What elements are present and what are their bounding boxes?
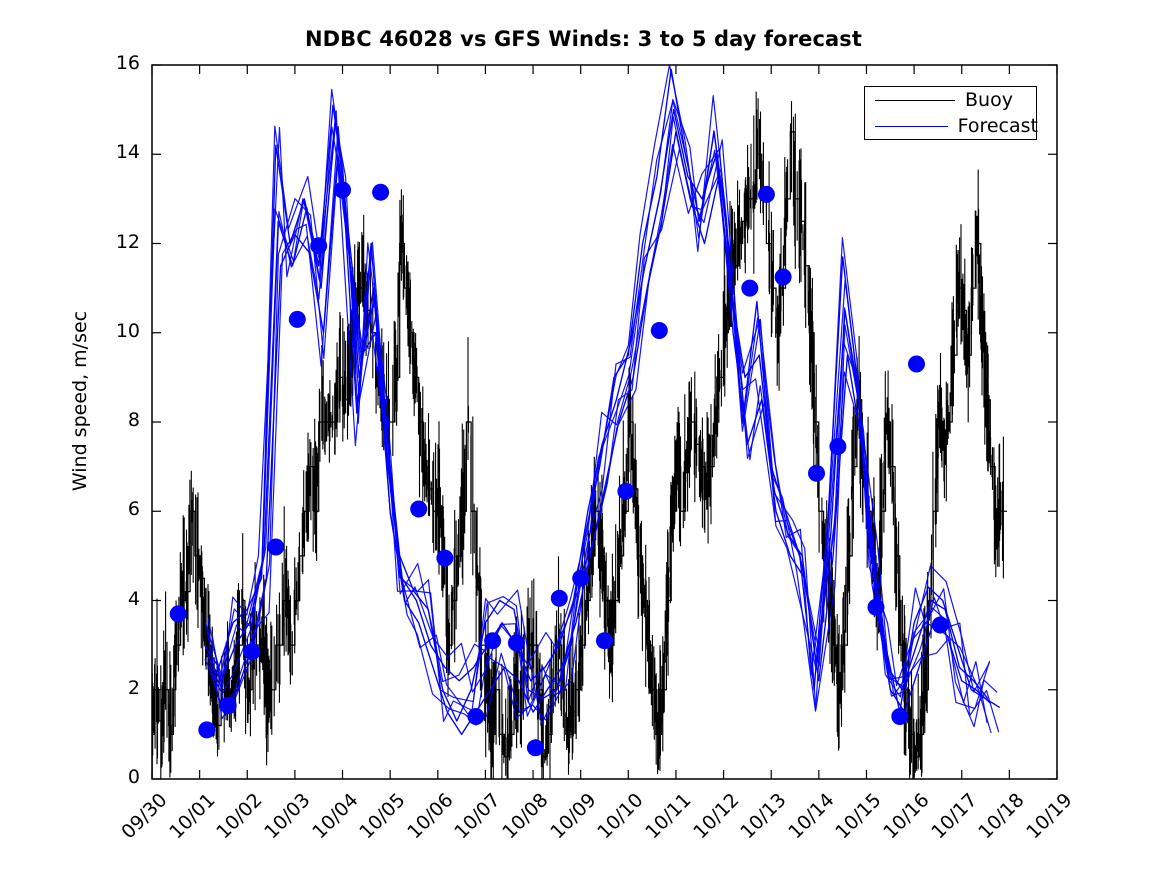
forecast-verification-marker-6 (310, 237, 327, 254)
forecast-verification-marker-20 (741, 280, 758, 297)
forecast-verification-marker-18 (617, 483, 634, 500)
forecast-verification-marker-14 (527, 739, 544, 756)
forecast-verification-marker-21 (758, 186, 775, 203)
legend-item-forecast: Forecast (865, 113, 1038, 140)
legend-label-buoy: Buoy (965, 91, 1013, 110)
forecast-verification-marker-15 (551, 590, 568, 607)
forecast-verification-marker-16 (572, 570, 589, 587)
forecast-verification-marker-12 (484, 632, 501, 649)
forecast-verification-marker-25 (868, 599, 885, 616)
forecast-verification-marker-27 (908, 356, 925, 373)
buoy-series-hourly-detail (152, 92, 1003, 779)
forecast-verification-marker-24 (829, 438, 846, 455)
forecast-verification-marker-23 (808, 465, 825, 482)
chart-figure: NDBC 46028 vs GFS Winds: 3 to 5 day fore… (0, 0, 1167, 875)
forecast-verification-marker-4 (267, 539, 284, 556)
forecast-verification-marker-2 (220, 697, 237, 714)
forecast-verification-marker-9 (410, 501, 427, 518)
forecast-verification-marker-11 (467, 708, 484, 725)
forecast-verification-marker-10 (436, 550, 453, 567)
forecast-verification-marker-5 (289, 311, 306, 328)
forecast-verification-marker-3 (244, 643, 261, 660)
forecast-verification-marker-1 (198, 721, 215, 738)
forecast-verification-marker-13 (508, 634, 525, 651)
forecast-verification-marker-19 (651, 322, 668, 339)
forecast-verification-marker-28 (932, 617, 949, 634)
forecast-verification-marker-22 (775, 269, 792, 286)
forecast-verification-marker-17 (596, 632, 613, 649)
forecast-verification-marker-8 (372, 184, 389, 201)
forecast-verification-marker-0 (170, 605, 187, 622)
legend-label-forecast: Forecast (958, 117, 1038, 136)
legend-item-buoy: Buoy (865, 87, 1038, 114)
forecast-verification-marker-26 (891, 708, 908, 725)
legend: Buoy Forecast (864, 86, 1037, 140)
legend-swatch-forecast (875, 126, 948, 127)
legend-swatch-buoy (875, 100, 955, 101)
forecast-verification-marker-7 (334, 182, 351, 199)
